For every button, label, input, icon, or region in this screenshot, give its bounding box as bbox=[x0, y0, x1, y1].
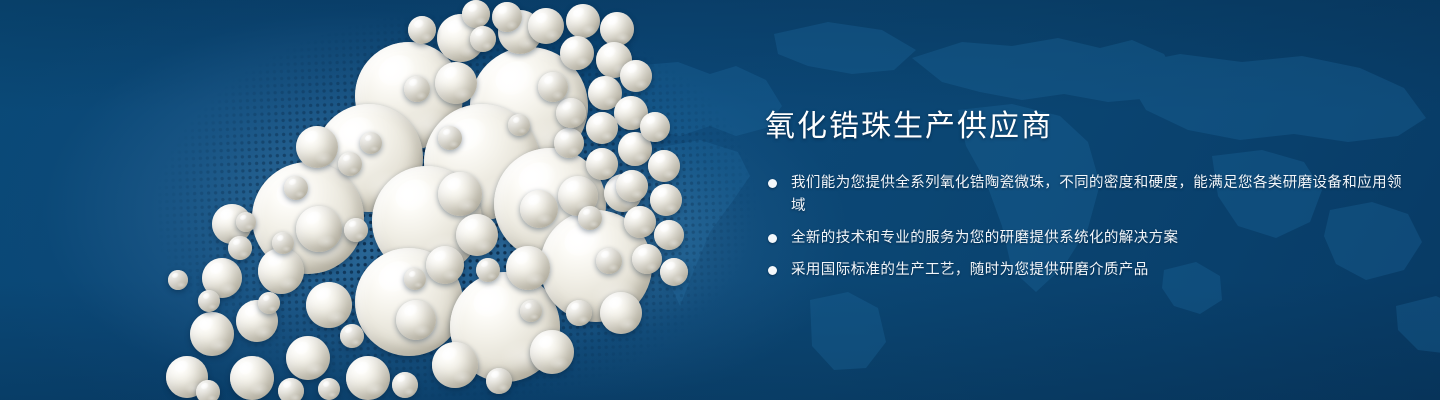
bullet-dot-icon bbox=[768, 234, 777, 243]
bullet-dot-icon bbox=[768, 179, 777, 188]
feature-list: 我们能为您提供全系列氧化锆陶瓷微珠，不同的密度和硬度，能满足您各类研磨设备和应用… bbox=[765, 172, 1405, 282]
list-item-label: 我们能为您提供全系列氧化锆陶瓷微珠，不同的密度和硬度，能满足您各类研磨设备和应用… bbox=[791, 175, 1402, 214]
bullet-dot-icon bbox=[768, 266, 777, 275]
list-item: 采用国际标准的生产工艺，随时为您提供研磨介质产品 bbox=[765, 259, 1405, 282]
list-item: 全新的技术和专业的服务为您的研磨提供系统化的解决方案 bbox=[765, 227, 1405, 250]
hero-banner: 氧化锆珠生产供应商 我们能为您提供全系列氧化锆陶瓷微珠，不同的密度和硬度，能满足… bbox=[0, 0, 1440, 400]
list-item: 我们能为您提供全系列氧化锆陶瓷微珠，不同的密度和硬度，能满足您各类研磨设备和应用… bbox=[765, 172, 1405, 218]
page-title: 氧化锆珠生产供应商 bbox=[765, 108, 1405, 146]
list-item-label: 全新的技术和专业的服务为您的研磨提供系统化的解决方案 bbox=[791, 230, 1178, 246]
banner-copy: 氧化锆珠生产供应商 我们能为您提供全系列氧化锆陶瓷微珠，不同的密度和硬度，能满足… bbox=[765, 108, 1405, 282]
list-item-label: 采用国际标准的生产工艺，随时为您提供研磨介质产品 bbox=[791, 262, 1149, 278]
